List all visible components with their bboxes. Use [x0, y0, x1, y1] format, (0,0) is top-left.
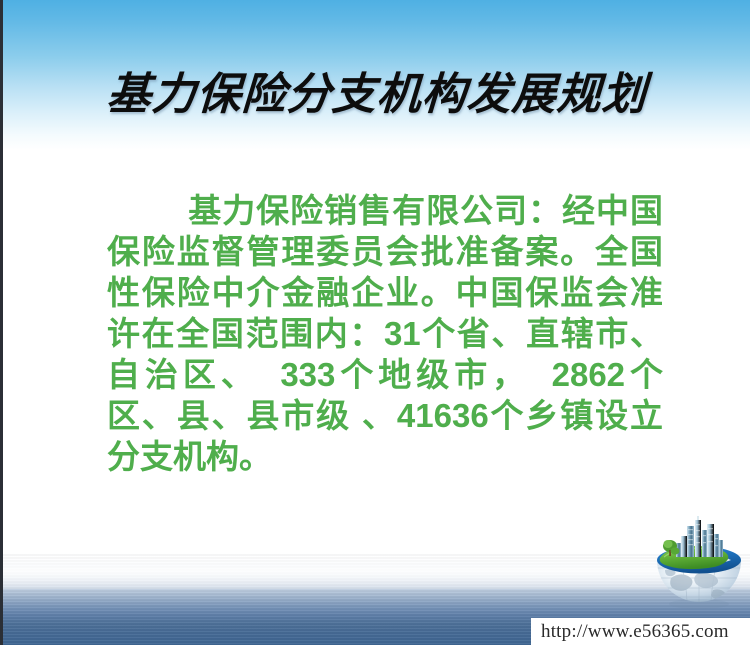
horizon-mist-overlay [3, 555, 750, 589]
watermark-url: http://www.e56365.com [531, 621, 729, 643]
presentation-slide: 基力保险分支机构发展规划 基力保险销售有限公司：经中国保险监督管理委员会批准备案… [0, 0, 750, 645]
watermark-banner: http://www.e56365.com [531, 618, 750, 645]
eco-city-globe-icon [651, 516, 747, 614]
slide-title-container: 基力保险分支机构发展规划 [3, 58, 750, 122]
slide-body-container: 基力保险销售有限公司：经中国保险监督管理委员会批准备案。全国性保险中介金融企业。… [107, 190, 663, 477]
slide-title: 基力保险分支机构发展规划 [105, 58, 648, 122]
slide-body-text: 基力保险销售有限公司：经中国保险监督管理委员会批准备案。全国性保险中介金融企业。… [107, 190, 663, 477]
